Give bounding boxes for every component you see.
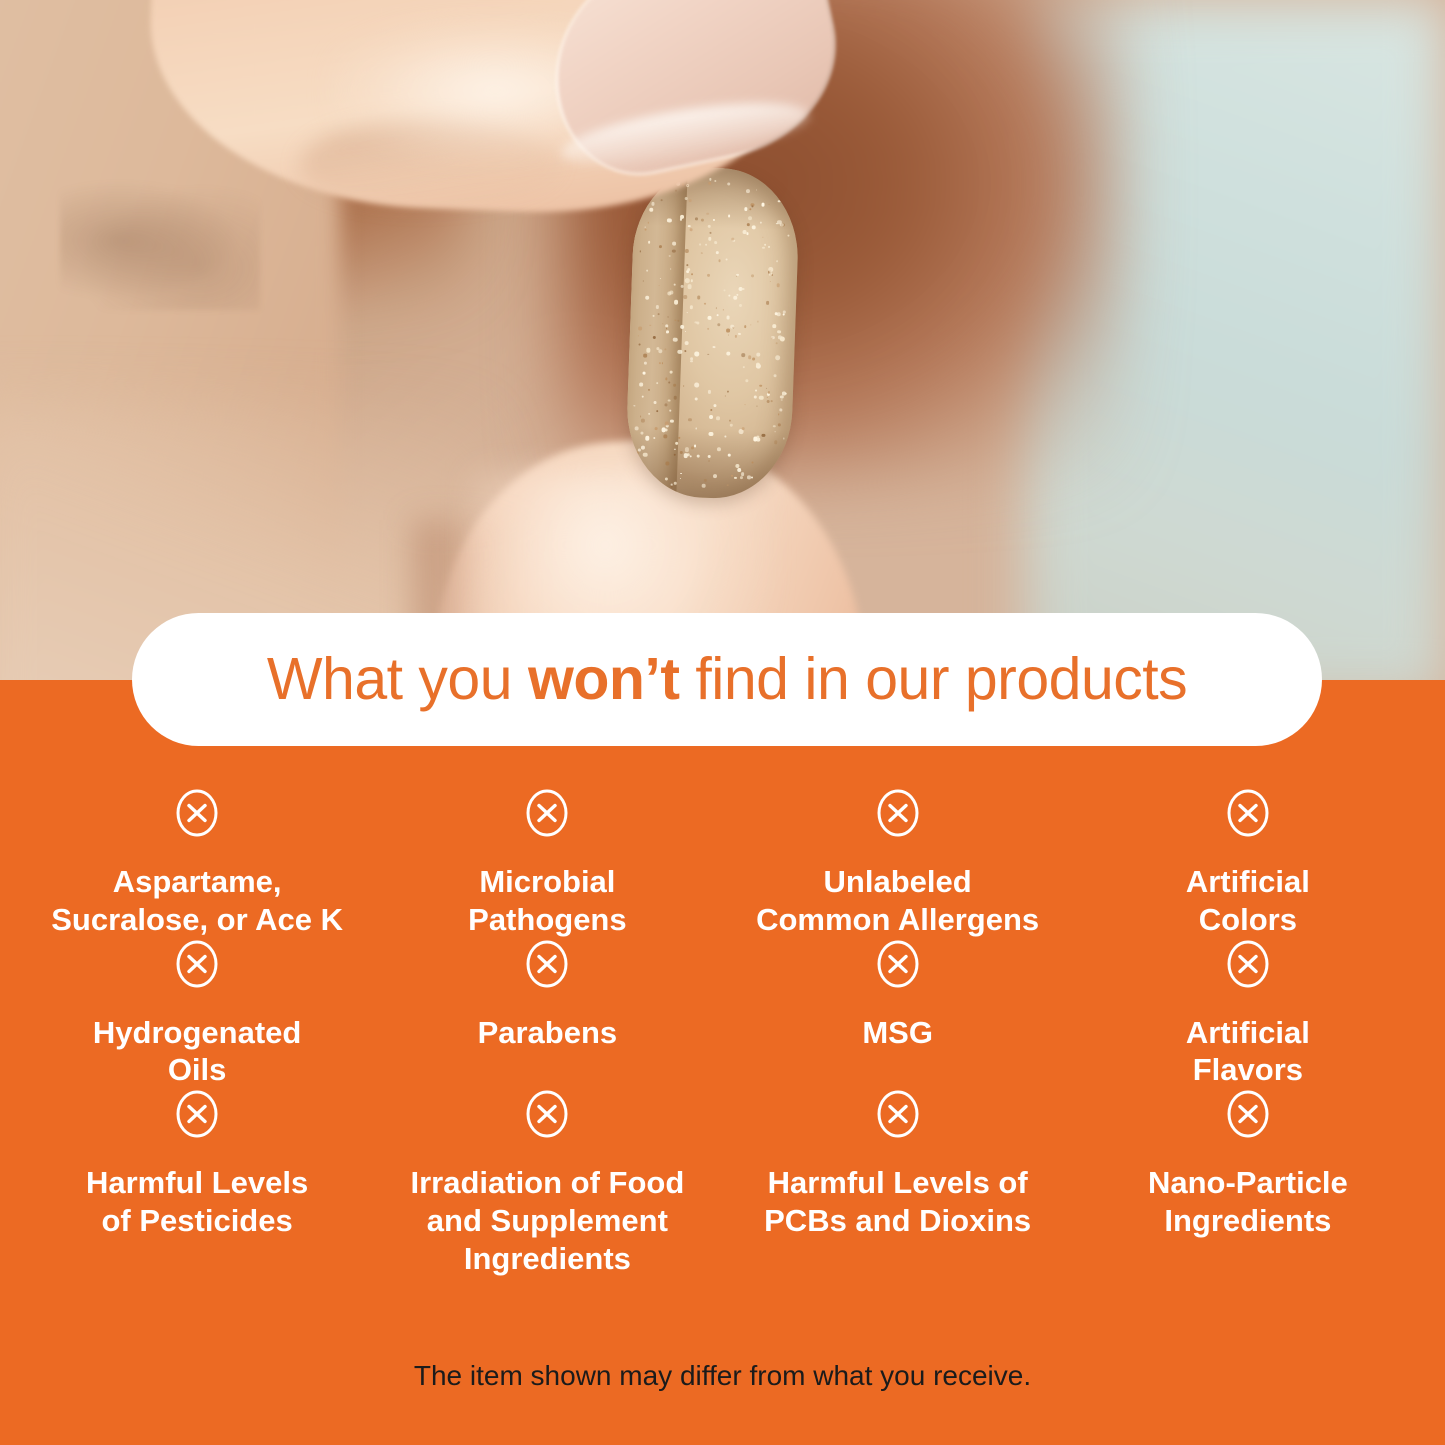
list-item-label: Harmful Levels of PCBs and Dioxins [764, 1164, 1031, 1240]
list-item-label: Nano-Particle Ingredients [1148, 1164, 1348, 1240]
list-item: Hydrogenated Oils [22, 939, 372, 1090]
circle-x-icon [175, 939, 219, 989]
list-item: Unlabeled Common Allergens [723, 788, 1073, 939]
skin-texture [60, 170, 260, 310]
list-item: Nano-Particle Ingredients [1073, 1089, 1423, 1277]
list-item-label: Artificial Flavors [1186, 1014, 1310, 1090]
circle-x-icon [876, 788, 920, 838]
circle-x-icon [876, 1089, 920, 1139]
list-item-label: Microbial Pathogens [468, 863, 626, 939]
list-item-label: Parabens [478, 1014, 618, 1052]
list-item-label: MSG [862, 1014, 933, 1052]
heading-pill: What you won’t find in our products [132, 613, 1322, 746]
tablet-body [624, 165, 800, 501]
list-item: Microbial Pathogens [372, 788, 722, 939]
disclaimer-text: The item shown may differ from what you … [0, 1360, 1445, 1392]
page-title-emphasis: won’t [528, 646, 680, 712]
circle-x-icon [525, 1089, 569, 1139]
list-item: MSG [723, 939, 1073, 1090]
list-item-label: Unlabeled Common Allergens [756, 863, 1039, 939]
list-item: Artificial Flavors [1073, 939, 1423, 1090]
circle-x-icon [876, 939, 920, 989]
list-item-label: Artificial Colors [1186, 863, 1310, 939]
list-item: Parabens [372, 939, 722, 1090]
list-item-label: Harmful Levels of Pesticides [86, 1164, 308, 1240]
circle-x-icon [525, 788, 569, 838]
circle-x-icon [1226, 788, 1270, 838]
product-infographic-page: What you won’t find in our products Aspa… [0, 0, 1445, 1445]
circle-x-icon [525, 939, 569, 989]
circle-x-icon [175, 1089, 219, 1139]
circle-x-icon [175, 788, 219, 838]
supplement-tablet [624, 165, 800, 501]
list-item-label: Irradiation of Food and Supplement Ingre… [410, 1164, 684, 1277]
circle-x-icon [1226, 1089, 1270, 1139]
list-item-label: Hydrogenated Oils [93, 1014, 301, 1090]
circle-x-icon [1226, 939, 1270, 989]
list-item: Aspartame, Sucralose, or Ace K [22, 788, 372, 939]
tablet-bottom-shadow [624, 425, 791, 501]
page-title-part1: What you [267, 646, 528, 712]
list-item: Harmful Levels of Pesticides [22, 1089, 372, 1277]
excluded-ingredients-grid: Aspartame, Sucralose, or Ace K Microbial… [22, 788, 1423, 1278]
list-item: Irradiation of Food and Supplement Ingre… [372, 1089, 722, 1277]
list-item-label: Aspartame, Sucralose, or Ace K [51, 863, 343, 939]
page-title: What you won’t find in our products [267, 650, 1187, 709]
hand-holding-tablet-photo [0, 0, 1445, 700]
page-title-part2: find in our products [679, 646, 1187, 712]
list-item: Harmful Levels of PCBs and Dioxins [723, 1089, 1073, 1277]
list-item: Artificial Colors [1073, 788, 1423, 939]
